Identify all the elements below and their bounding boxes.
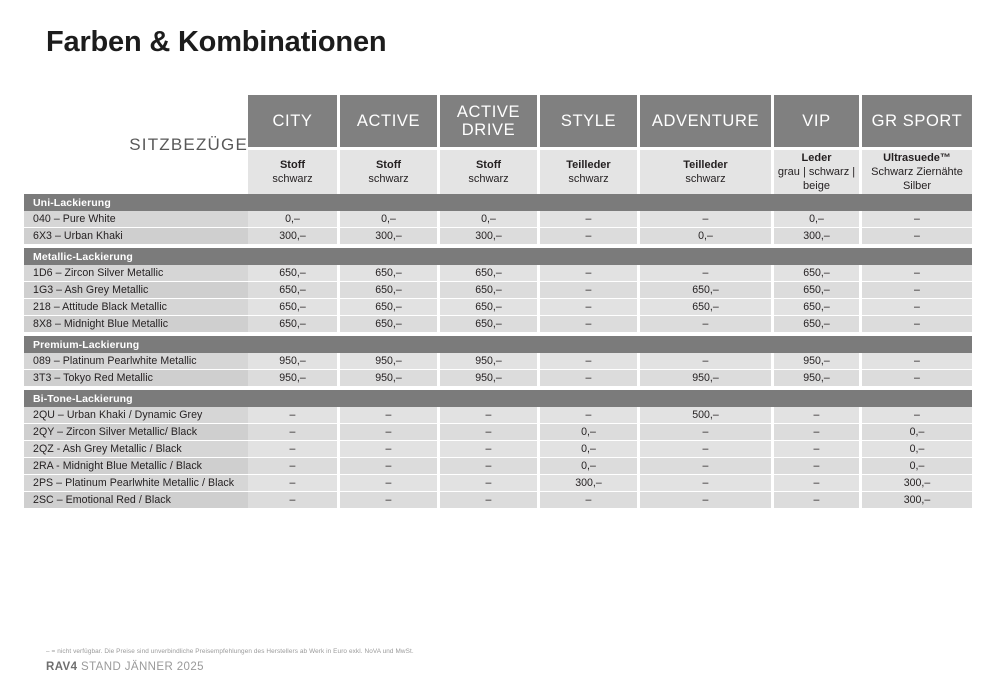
price-cell-active: 650,– xyxy=(340,265,440,282)
grade-header-vip: VIP xyxy=(774,95,862,147)
table-row: 1G3 – Ash Grey Metallic650,–650,–650,––6… xyxy=(24,282,972,299)
price-cell-active: 650,– xyxy=(340,299,440,316)
color-name-cell: 1G3 – Ash Grey Metallic xyxy=(24,282,248,299)
price-cell-active-drive: – xyxy=(440,458,540,475)
price-cell-gr-sport: 0,– xyxy=(862,424,972,441)
price-cell-gr-sport: – xyxy=(862,299,972,316)
color-name-cell: 040 – Pure White xyxy=(24,211,248,228)
price-cell-adventure: – xyxy=(640,441,774,458)
colors-combinations-table: SITZBEZÜGE CITY ACTIVE ACTIVE DRIVE STYL… xyxy=(24,95,966,509)
price-cell-vip: – xyxy=(774,407,862,424)
seat-colors: grau | schwarz | beige xyxy=(774,165,859,194)
grade-header-style: STYLE xyxy=(540,95,640,147)
price-cell-vip: – xyxy=(774,458,862,475)
price-cell-adventure: 650,– xyxy=(640,282,774,299)
color-name-cell: 2QZ - Ash Grey Metallic / Black xyxy=(24,441,248,458)
price-cell-city: 650,– xyxy=(248,299,340,316)
price-cell-adventure: 500,– xyxy=(640,407,774,424)
price-cell-active: – xyxy=(340,475,440,492)
color-name-cell: 2QY – Zircon Silver Metallic/ Black xyxy=(24,424,248,441)
price-cell-active-drive: 0,– xyxy=(440,211,540,228)
price-cell-adventure: – xyxy=(640,424,774,441)
price-cell-style: – xyxy=(540,299,640,316)
price-cell-city: – xyxy=(248,492,340,509)
seat-material-city: Stoff schwarz xyxy=(248,147,340,194)
price-cell-adventure: – xyxy=(640,458,774,475)
seat-colors: schwarz xyxy=(540,172,637,186)
section-header-row: Bi-Tone-Lackierung xyxy=(24,390,972,407)
table-row: 6X3 – Urban Khaki300,–300,–300,––0,–300,… xyxy=(24,228,972,245)
price-cell-active-drive: – xyxy=(440,424,540,441)
model-name: RAV4 xyxy=(46,661,77,673)
price-cell-vip: – xyxy=(774,424,862,441)
price-cell-active: 650,– xyxy=(340,316,440,333)
price-cell-gr-sport: – xyxy=(862,353,972,370)
price-cell-style: – xyxy=(540,228,640,245)
seat-colors: schwarz xyxy=(340,172,437,186)
table-row: 8X8 – Midnight Blue Metallic650,–650,–65… xyxy=(24,316,972,333)
seat-material-vip: Leder grau | schwarz | beige xyxy=(774,147,862,194)
price-cell-vip: 300,– xyxy=(774,228,862,245)
price-cell-city: 950,– xyxy=(248,353,340,370)
grade-name-line1: GR SPORT xyxy=(862,112,972,130)
price-cell-active: 0,– xyxy=(340,211,440,228)
price-sheet-page: Farben & Kombinationen SITZBEZÜGE CITY xyxy=(0,0,990,700)
price-cell-vip: 650,– xyxy=(774,316,862,333)
price-cell-adventure: – xyxy=(640,353,774,370)
color-name-cell: 089 – Platinum Pearlwhite Metallic xyxy=(24,353,248,370)
grade-header-city: CITY xyxy=(248,95,340,147)
price-cell-style: 0,– xyxy=(540,458,640,475)
price-cell-city: 300,– xyxy=(248,228,340,245)
price-cell-active-drive: 300,– xyxy=(440,228,540,245)
price-cell-city: 650,– xyxy=(248,316,340,333)
table-row: 089 – Platinum Pearlwhite Metallic950,–9… xyxy=(24,353,972,370)
price-cell-gr-sport: – xyxy=(862,211,972,228)
price-cell-style: 0,– xyxy=(540,441,640,458)
section-heading: Bi-Tone-Lackierung xyxy=(24,390,972,407)
grade-name-line1: ACTIVE xyxy=(340,112,437,130)
price-cell-style: – xyxy=(540,492,640,509)
table-row: 2QY – Zircon Silver Metallic/ Black–––0,… xyxy=(24,424,972,441)
table-header: SITZBEZÜGE CITY ACTIVE ACTIVE DRIVE STYL… xyxy=(24,95,972,194)
price-cell-style: 0,– xyxy=(540,424,640,441)
price-cell-vip: 650,– xyxy=(774,265,862,282)
price-cell-active: 950,– xyxy=(340,353,440,370)
price-cell-gr-sport: – xyxy=(862,316,972,333)
section-header-row: Metallic-Lackierung xyxy=(24,248,972,265)
seat-colors: Schwarz Ziernähte Silber xyxy=(862,165,972,194)
color-name-cell: 2RA - Midnight Blue Metallic / Black xyxy=(24,458,248,475)
price-cell-city: – xyxy=(248,475,340,492)
price-cell-active-drive: 650,– xyxy=(440,299,540,316)
price-cell-city: – xyxy=(248,441,340,458)
price-cell-vip: 950,– xyxy=(774,353,862,370)
section-heading: Uni-Lackierung xyxy=(24,194,972,211)
price-cell-style: – xyxy=(540,316,640,333)
table-row: 218 – Attitude Black Metallic650,–650,–6… xyxy=(24,299,972,316)
price-cell-vip: – xyxy=(774,475,862,492)
price-cell-adventure: – xyxy=(640,265,774,282)
price-cell-gr-sport: 0,– xyxy=(862,441,972,458)
price-cell-style: – xyxy=(540,353,640,370)
footnote-text: – = nicht verfügbar. Die Preise sind unv… xyxy=(46,648,946,655)
price-cell-active-drive: 950,– xyxy=(440,370,540,387)
price-cell-gr-sport: – xyxy=(862,282,972,299)
color-name-cell: 2QU – Urban Khaki / Dynamic Grey xyxy=(24,407,248,424)
table-row: 3T3 – Tokyo Red Metallic950,–950,–950,––… xyxy=(24,370,972,387)
price-cell-active-drive: – xyxy=(440,441,540,458)
grade-band-row: SITZBEZÜGE CITY ACTIVE ACTIVE DRIVE STYL… xyxy=(24,95,972,147)
price-cell-active: 650,– xyxy=(340,282,440,299)
table-row: 040 – Pure White0,–0,–0,–––0,–– xyxy=(24,211,972,228)
section-heading: Premium-Lackierung xyxy=(24,336,972,353)
price-cell-active-drive: – xyxy=(440,492,540,509)
grade-name-line1: ADVENTURE xyxy=(640,112,771,130)
price-cell-active: – xyxy=(340,441,440,458)
color-name-cell: 6X3 – Urban Khaki xyxy=(24,228,248,245)
price-cell-style: – xyxy=(540,211,640,228)
seat-colors: schwarz xyxy=(248,172,337,186)
price-cell-gr-sport: – xyxy=(862,370,972,387)
price-cell-active-drive: – xyxy=(440,475,540,492)
price-cell-active-drive: 650,– xyxy=(440,282,540,299)
price-cell-gr-sport: 0,– xyxy=(862,458,972,475)
grade-name-line1: CITY xyxy=(248,112,337,130)
price-cell-active: – xyxy=(340,407,440,424)
grade-name-line2: DRIVE xyxy=(440,121,537,139)
price-cell-city: 650,– xyxy=(248,282,340,299)
seat-material-style: Teilleder schwarz xyxy=(540,147,640,194)
price-cell-adventure: – xyxy=(640,492,774,509)
table-row: 2SC – Emotional Red / Black––––––300,– xyxy=(24,492,972,509)
stand-date: STAND JÄNNER 2025 xyxy=(77,661,204,673)
price-cell-style: – xyxy=(540,407,640,424)
price-cell-style: – xyxy=(540,282,640,299)
price-cell-city: 0,– xyxy=(248,211,340,228)
seat-material: Leder xyxy=(774,151,859,165)
table-row: 2QZ - Ash Grey Metallic / Black–––0,–––0… xyxy=(24,441,972,458)
seat-covers-label: SITZBEZÜGE xyxy=(24,95,248,194)
grade-name-line1: ACTIVE xyxy=(440,103,537,121)
price-cell-gr-sport: 300,– xyxy=(862,492,972,509)
grade-header-active: ACTIVE xyxy=(340,95,440,147)
seat-material-gr-sport: Ultrasuede™ Schwarz Ziernähte Silber xyxy=(862,147,972,194)
price-cell-vip: – xyxy=(774,492,862,509)
page-title: Farben & Kombinationen xyxy=(46,26,386,59)
price-cell-adventure: 950,– xyxy=(640,370,774,387)
price-cell-city: 650,– xyxy=(248,265,340,282)
grade-header-adventure: ADVENTURE xyxy=(640,95,774,147)
price-cell-active: 300,– xyxy=(340,228,440,245)
price-cell-city: – xyxy=(248,458,340,475)
seat-colors: schwarz xyxy=(640,172,771,186)
seat-material-adventure: Teilleder schwarz xyxy=(640,147,774,194)
price-cell-style: – xyxy=(540,370,640,387)
price-cell-adventure: – xyxy=(640,316,774,333)
price-cell-adventure: – xyxy=(640,475,774,492)
seat-colors: schwarz xyxy=(440,172,537,186)
price-cell-vip: 950,– xyxy=(774,370,862,387)
seat-material-active-drive: Stoff schwarz xyxy=(440,147,540,194)
price-cell-adventure: – xyxy=(640,211,774,228)
grade-header-gr-sport: GR SPORT xyxy=(862,95,972,147)
seat-material: Stoff xyxy=(340,158,437,172)
section-header-row: Uni-Lackierung xyxy=(24,194,972,211)
section-header-row: Premium-Lackierung xyxy=(24,336,972,353)
price-cell-vip: 0,– xyxy=(774,211,862,228)
price-cell-active-drive: – xyxy=(440,407,540,424)
price-cell-gr-sport: – xyxy=(862,228,972,245)
price-cell-vip: – xyxy=(774,441,862,458)
color-name-cell: 2SC – Emotional Red / Black xyxy=(24,492,248,509)
table-row: 2RA - Midnight Blue Metallic / Black–––0… xyxy=(24,458,972,475)
price-cell-city: – xyxy=(248,407,340,424)
price-cell-vip: 650,– xyxy=(774,282,862,299)
grade-name-line1: VIP xyxy=(774,112,859,130)
table-body: Uni-Lackierung040 – Pure White0,–0,–0,––… xyxy=(24,194,972,509)
seat-material: Stoff xyxy=(440,158,537,172)
grade-header-active-drive: ACTIVE DRIVE xyxy=(440,95,540,147)
price-cell-active: – xyxy=(340,492,440,509)
price-cell-active: – xyxy=(340,458,440,475)
price-cell-city: 950,– xyxy=(248,370,340,387)
price-cell-vip: 650,– xyxy=(774,299,862,316)
table-row: 2QU – Urban Khaki / Dynamic Grey––––500,… xyxy=(24,407,972,424)
price-cell-active-drive: 650,– xyxy=(440,265,540,282)
price-cell-style: 300,– xyxy=(540,475,640,492)
seat-material: Teilleder xyxy=(540,158,637,172)
price-cell-active: – xyxy=(340,424,440,441)
price-cell-active-drive: 650,– xyxy=(440,316,540,333)
table-row: 2PS – Platinum Pearlwhite Metallic / Bla… xyxy=(24,475,972,492)
table-row: 1D6 – Zircon Silver Metallic650,–650,–65… xyxy=(24,265,972,282)
footer: – = nicht verfügbar. Die Preise sind unv… xyxy=(46,648,946,673)
grade-name-line1: STYLE xyxy=(540,112,637,130)
color-name-cell: 3T3 – Tokyo Red Metallic xyxy=(24,370,248,387)
color-name-cell: 218 – Attitude Black Metallic xyxy=(24,299,248,316)
price-cell-adventure: 0,– xyxy=(640,228,774,245)
color-name-cell: 2PS – Platinum Pearlwhite Metallic / Bla… xyxy=(24,475,248,492)
price-cell-gr-sport: – xyxy=(862,407,972,424)
price-cell-gr-sport: – xyxy=(862,265,972,282)
color-name-cell: 8X8 – Midnight Blue Metallic xyxy=(24,316,248,333)
seat-material: Stoff xyxy=(248,158,337,172)
seat-material: Teilleder xyxy=(640,158,771,172)
price-cell-gr-sport: 300,– xyxy=(862,475,972,492)
color-name-cell: 1D6 – Zircon Silver Metallic xyxy=(24,265,248,282)
footer-brand: RAV4 STAND JÄNNER 2025 xyxy=(46,661,946,673)
price-cell-active-drive: 950,– xyxy=(440,353,540,370)
section-heading: Metallic-Lackierung xyxy=(24,248,972,265)
seat-material-active: Stoff schwarz xyxy=(340,147,440,194)
seat-material: Ultrasuede™ xyxy=(862,151,972,165)
price-cell-active: 950,– xyxy=(340,370,440,387)
price-cell-adventure: 650,– xyxy=(640,299,774,316)
price-cell-style: – xyxy=(540,265,640,282)
matrix-table: SITZBEZÜGE CITY ACTIVE ACTIVE DRIVE STYL… xyxy=(24,95,972,509)
price-cell-city: – xyxy=(248,424,340,441)
